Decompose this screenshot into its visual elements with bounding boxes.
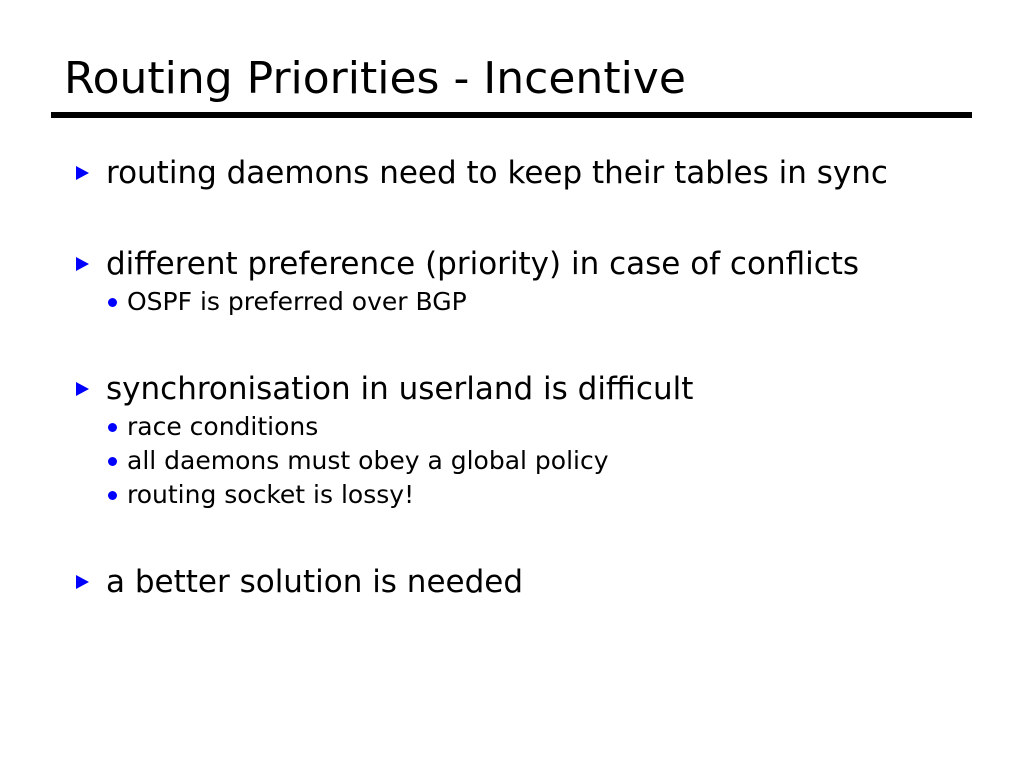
bullet-level2-label: routing socket is lossy! (127, 478, 414, 512)
bullet-level2-label: all daemons must obey a global policy (127, 444, 609, 478)
bullet-level1-label: routing daemons need to keep their table… (106, 152, 888, 194)
bullet-level2: all daemons must obey a global policy (0, 444, 1024, 478)
presentation-slide: Routing Priorities - Incentive routing d… (0, 0, 1024, 768)
group-spacer (0, 319, 1024, 368)
bullet-level2: OSPF is preferred over BGP (0, 285, 1024, 319)
round-dot-icon (108, 298, 117, 307)
group-spacer (0, 194, 1024, 243)
round-dot-icon (108, 457, 117, 466)
bullet-level2-label: race conditions (127, 410, 318, 444)
bullet-level1-label: a better solution is needed (106, 561, 523, 603)
triangle-right-icon (76, 257, 89, 271)
bullet-group: routing daemons need to keep their table… (0, 152, 1024, 194)
bullet-level2: routing socket is lossy! (0, 478, 1024, 512)
bullet-level1: routing daemons need to keep their table… (0, 152, 1024, 194)
slide-body: routing daemons need to keep their table… (0, 152, 1024, 603)
bullet-level1-label: different preference (priority) in case … (106, 243, 859, 285)
page-title: Routing Priorities - Incentive (64, 52, 686, 106)
round-dot-icon (108, 423, 117, 432)
title-underline-rule (51, 112, 972, 118)
bullet-level1: different preference (priority) in case … (0, 243, 1024, 285)
bullet-level2-label: OSPF is preferred over BGP (127, 285, 467, 319)
bullet-group: different preference (priority) in case … (0, 243, 1024, 319)
round-dot-icon (108, 491, 117, 500)
bullet-group: synchronisation in userland is difficult… (0, 368, 1024, 512)
triangle-right-icon (76, 382, 89, 396)
group-spacer (0, 512, 1024, 561)
bullet-level1: synchronisation in userland is difficult (0, 368, 1024, 410)
triangle-right-icon (76, 166, 89, 180)
bullet-level2: race conditions (0, 410, 1024, 444)
bullet-level1: a better solution is needed (0, 561, 1024, 603)
triangle-right-icon (76, 575, 89, 589)
bullet-level1-label: synchronisation in userland is difficult (106, 368, 693, 410)
bullet-group: a better solution is needed (0, 561, 1024, 603)
